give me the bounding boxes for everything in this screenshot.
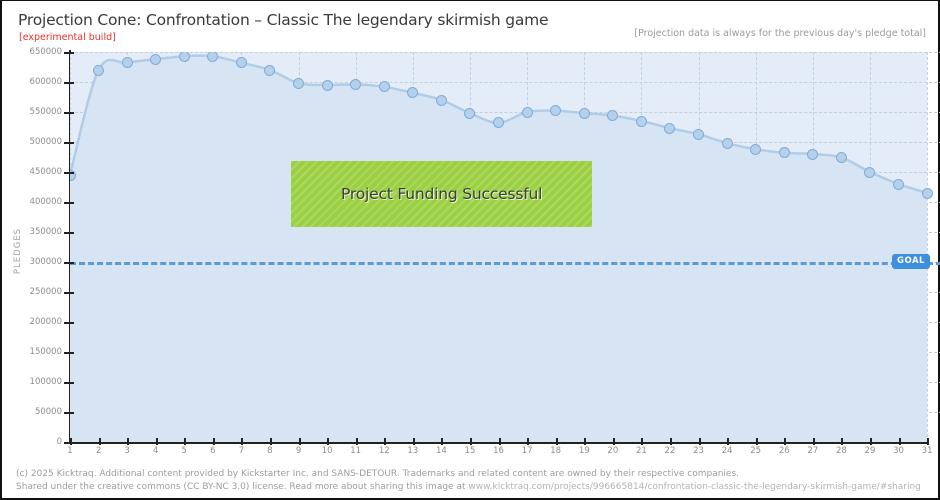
x-axis-tick-label: 5	[174, 446, 194, 456]
data-point[interactable]	[379, 81, 390, 92]
x-axis-tick-label: 27	[803, 446, 823, 456]
x-axis-tick-label: 12	[374, 446, 394, 456]
x-axis-tick-label: 28	[831, 446, 851, 456]
x-axis-tick-label: 8	[260, 446, 280, 456]
x-axis-tick-mark	[299, 438, 301, 445]
footer-line-1: (c) 2025 Kicktraq. Additional content pr…	[16, 468, 940, 481]
y-axis-tick-mark	[64, 382, 74, 384]
x-axis-tick-mark	[670, 438, 672, 445]
x-axis-tick-label: 15	[460, 446, 480, 456]
x-axis-tick-label: 26	[774, 446, 794, 456]
x-axis-tick-mark	[584, 438, 586, 445]
x-axis-tick-mark	[784, 438, 786, 445]
x-axis-tick-label: 18	[546, 446, 566, 456]
experimental-build-tag: [experimental build]	[19, 32, 116, 43]
x-axis-tick-label: 20	[603, 446, 623, 456]
y-axis-tick-label: 250000	[4, 287, 62, 297]
y-axis-tick-label: 400000	[4, 197, 62, 207]
data-point[interactable]	[693, 129, 704, 140]
data-point[interactable]	[579, 108, 590, 119]
y-axis-tick-label: 650000	[4, 47, 62, 57]
x-axis-tick-mark	[641, 438, 643, 445]
y-axis-tick-mark	[64, 292, 74, 294]
x-axis-tick-mark	[156, 438, 158, 445]
x-axis-tick-label: 16	[489, 446, 509, 456]
x-axis-tick-mark	[470, 438, 472, 445]
x-axis-tick-label: 10	[317, 446, 337, 456]
series-area-svg	[70, 52, 940, 442]
funding-success-label: Project Funding Successful	[341, 185, 542, 203]
data-point[interactable]	[779, 147, 790, 158]
x-axis-tick-label: 14	[431, 446, 451, 456]
x-axis-tick-mark	[499, 438, 501, 445]
footer-line-2-text: Shared under the creative commons (CC BY…	[16, 482, 468, 492]
data-point[interactable]	[293, 78, 304, 89]
data-point[interactable]	[722, 138, 733, 149]
x-axis-tick-mark	[556, 438, 558, 445]
footer-line-2: Shared under the creative commons (CC BY…	[16, 481, 940, 494]
x-axis-tick-mark	[127, 438, 129, 445]
data-point[interactable]	[93, 65, 104, 76]
goal-line	[70, 262, 940, 265]
x-axis-tick-mark	[699, 438, 701, 445]
x-axis-tick-label: 17	[517, 446, 537, 456]
x-axis-tick-label: 6	[203, 446, 223, 456]
x-axis-tick-label: 1	[60, 446, 80, 456]
page-title: Projection Cone: Confrontation – Classic…	[18, 11, 548, 29]
y-axis-tick-label: 150000	[4, 347, 62, 357]
y-axis-tick-mark	[64, 262, 74, 264]
x-axis-tick-label: 19	[574, 446, 594, 456]
x-axis-tick-mark	[213, 438, 215, 445]
y-axis-tick-mark	[64, 142, 74, 144]
x-axis-tick-label: 4	[146, 446, 166, 456]
data-point[interactable]	[836, 152, 847, 163]
x-axis-tick-label: 7	[231, 446, 251, 456]
x-axis-tick-label: 24	[717, 446, 737, 456]
x-axis-tick-mark	[927, 438, 929, 445]
data-point[interactable]	[864, 167, 875, 178]
x-axis-tick-mark	[70, 438, 72, 445]
data-point[interactable]	[322, 80, 333, 91]
x-axis-tick-mark	[384, 438, 386, 445]
x-axis-tick-mark	[870, 438, 872, 445]
data-point[interactable]	[122, 57, 133, 68]
data-point[interactable]	[264, 65, 275, 76]
footer-url[interactable]: www.kicktraq.com/projects/996665814/conf…	[468, 482, 921, 492]
x-axis-tick-mark	[756, 438, 758, 445]
x-axis-tick-mark	[899, 438, 901, 445]
goal-badge: GOAL	[892, 254, 930, 269]
y-axis-tick-mark	[64, 412, 74, 414]
data-point[interactable]	[636, 116, 647, 127]
x-axis-tick-mark	[99, 438, 101, 445]
x-axis-tick-mark	[841, 438, 843, 445]
x-axis-tick-mark	[184, 438, 186, 445]
x-axis-tick-mark	[613, 438, 615, 445]
y-axis-tick-label: 450000	[4, 167, 62, 177]
y-axis-tick-mark	[64, 352, 74, 354]
x-axis-tick-label: 30	[889, 446, 909, 456]
y-axis-tick-mark	[64, 172, 74, 174]
x-axis-tick-mark	[413, 438, 415, 445]
x-axis-tick-label: 3	[117, 446, 137, 456]
y-axis-tick-label: 550000	[4, 107, 62, 117]
data-point[interactable]	[150, 54, 161, 65]
y-axis-tick-mark	[64, 442, 74, 444]
data-point[interactable]	[750, 144, 761, 155]
x-axis-tick-mark	[527, 438, 529, 445]
series-area	[70, 56, 927, 442]
footer: (c) 2025 Kicktraq. Additional content pr…	[16, 468, 940, 493]
x-axis-tick-label: 9	[289, 446, 309, 456]
x-axis-tick-label: 31	[917, 446, 937, 456]
y-axis-tick-label: 200000	[4, 317, 62, 327]
y-axis-tick-label: 300000	[4, 257, 62, 267]
x-axis-tick-mark	[327, 438, 329, 445]
x-axis-tick-label: 23	[689, 446, 709, 456]
y-axis-tick-mark	[64, 322, 74, 324]
x-axis-tick-mark	[356, 438, 358, 445]
plot-area: Kicktraq GOAL Project Funding Successful	[70, 52, 940, 442]
x-axis-tick-mark	[727, 438, 729, 445]
y-axis-tick-label: 500000	[4, 137, 62, 147]
data-point[interactable]	[893, 179, 904, 190]
data-point[interactable]	[350, 79, 361, 90]
x-axis-tick-mark	[441, 438, 443, 445]
data-point[interactable]	[522, 107, 533, 118]
x-axis-tick-mark	[270, 438, 272, 445]
y-axis-tick-label: 100000	[4, 377, 62, 387]
y-axis-tick-mark	[64, 232, 74, 234]
x-axis-tick-label: 13	[403, 446, 423, 456]
x-axis-tick-mark	[241, 438, 243, 445]
data-point[interactable]	[436, 95, 447, 106]
kicktraq-projection-chart: Projection Cone: Confrontation – Classic…	[0, 0, 940, 500]
y-axis-tick-mark	[64, 82, 74, 84]
data-point[interactable]	[922, 188, 933, 199]
x-axis-tick-mark	[813, 438, 815, 445]
y-axis-tick-label: 0	[4, 437, 62, 447]
y-axis-tick-label: 600000	[4, 77, 62, 87]
x-axis-tick-label: 11	[346, 446, 366, 456]
y-axis-tick-mark	[64, 202, 74, 204]
x-axis-tick-label: 22	[660, 446, 680, 456]
y-axis-tick-mark	[64, 112, 74, 114]
y-axis-tick-mark	[64, 52, 74, 54]
x-axis-tick-label: 21	[631, 446, 651, 456]
projection-note: [Projection data is always for the previ…	[634, 28, 926, 39]
x-axis-tick-label: 2	[89, 446, 109, 456]
data-point[interactable]	[179, 52, 190, 62]
x-axis-tick-label: 29	[860, 446, 880, 456]
y-axis-tick-label: 50000	[4, 407, 62, 417]
data-point[interactable]	[807, 149, 818, 160]
x-axis-tick-label: 25	[746, 446, 766, 456]
y-axis-tick-label: 350000	[4, 227, 62, 237]
funding-success-banner: Project Funding Successful	[291, 161, 592, 227]
